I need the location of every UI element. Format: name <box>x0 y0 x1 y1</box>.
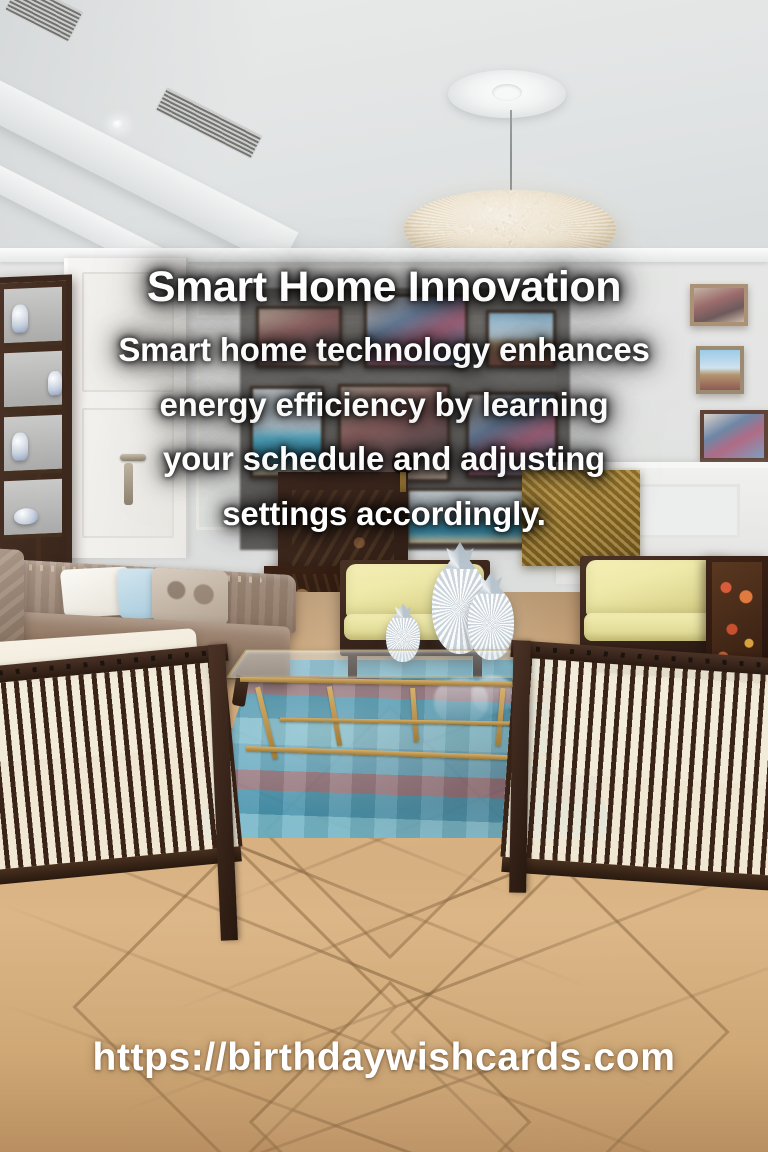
headline-block: Smart Home Innovation Smart home technol… <box>0 262 768 542</box>
text-overlay: Smart Home Innovation Smart home technol… <box>0 0 768 1152</box>
body-line: energy efficiency by learning <box>0 378 768 433</box>
body-line: settings accordingly. <box>0 487 768 542</box>
body-line: Smart home technology enhances <box>0 323 768 378</box>
body-line: your schedule and adjusting <box>0 432 768 487</box>
card-title: Smart Home Innovation <box>0 262 768 313</box>
website-url[interactable]: https://birthdaywishcards.com <box>0 1036 768 1080</box>
card-body: Smart home technology enhances energy ef… <box>0 323 768 542</box>
social-card: Smart Home Innovation Smart home technol… <box>0 0 768 1152</box>
